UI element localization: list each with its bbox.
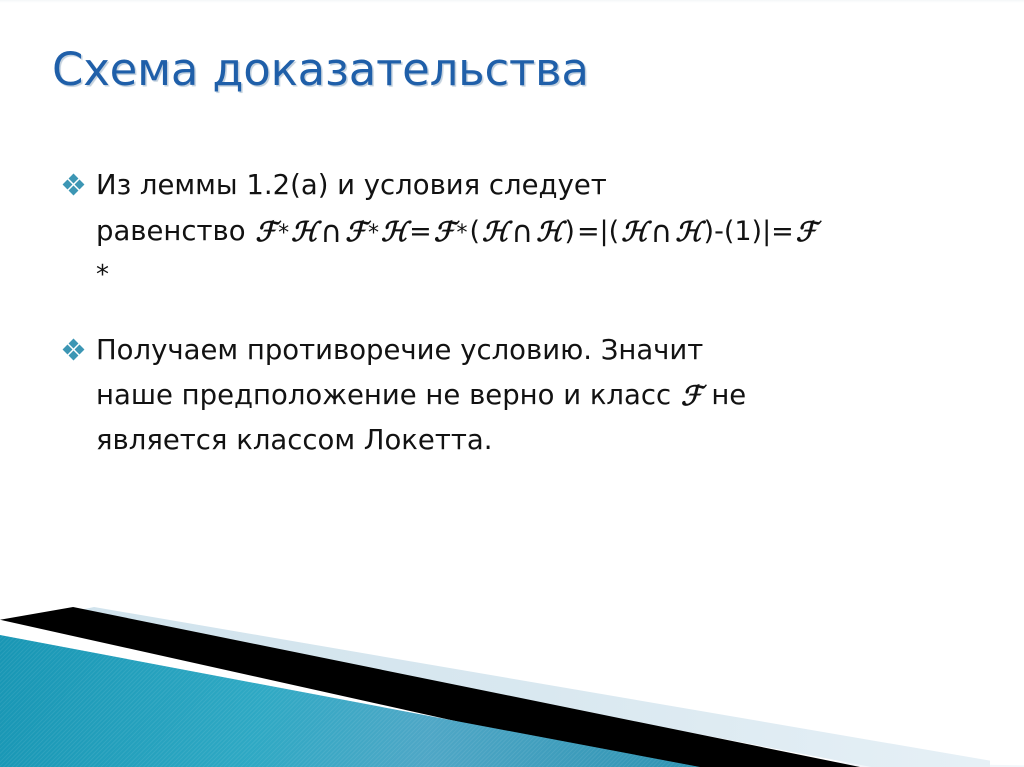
page-title: Схема доказательства	[52, 46, 952, 93]
decoration-band-teal	[0, 617, 700, 767]
equals-1: =	[408, 216, 433, 247]
paren-close-1: )	[563, 216, 576, 247]
frak-H-2: ℋ	[380, 217, 408, 248]
slide-decoration-bands	[0, 607, 1024, 767]
intersection-icon-2: ∩	[509, 215, 535, 250]
decoration-band-faint	[0, 607, 1024, 767]
list-item: Из леммы 1.2(а) и условия следует равенс…	[58, 163, 988, 294]
frak-H-4: ℋ	[535, 217, 563, 248]
bullet-2-line-2-a: наше предположение не верно и класс	[96, 379, 680, 411]
frak-F-2: ℱ	[344, 217, 367, 248]
floret-diamond-bullet-icon	[64, 340, 84, 360]
slide-title-block: Схема доказательства	[52, 46, 952, 120]
slide-top-rule	[0, 0, 1024, 3]
list-item: Получаем противоречие условию. Значит на…	[58, 328, 988, 463]
frak-H-6: ℋ	[674, 217, 702, 248]
star-2: *	[367, 221, 380, 246]
bullet-1-line-1: Из леммы 1.2(а) и условия следует	[96, 163, 988, 208]
decoration-band-black	[0, 607, 860, 767]
presentation-slide: Схема доказательства Из леммы 1.2(а) и у…	[0, 0, 1024, 767]
equals-2: =|(	[576, 216, 620, 247]
paren-close-2: )-(1)|=	[703, 216, 795, 247]
frak-F-5: ℱ	[680, 381, 703, 412]
star-1: *	[277, 221, 290, 246]
frak-F-3: ℱ	[433, 217, 456, 248]
decoration-band-pale-blue	[0, 607, 990, 767]
frak-H-1: ℋ	[290, 217, 318, 248]
bullet-1-line-3: *	[96, 256, 988, 294]
paren-open-1: (	[469, 216, 482, 247]
bullet-1-line-2-prefix: равенство	[96, 215, 254, 247]
intersection-icon-3: ∩	[648, 215, 674, 250]
bullet-2-line-1: Получаем противоречие условию. Значит	[96, 328, 988, 373]
intersection-icon-1: ∩	[318, 215, 344, 250]
slide-body: Из леммы 1.2(а) и условия следует равенс…	[58, 163, 988, 485]
bullet-1-formula-line: равенство ℱ*ℋ∩ℱ*ℋ=ℱ*(ℋ∩ℋ)=|(ℋ∩ℋ)-(1)|=ℱ	[96, 208, 988, 256]
floret-diamond-bullet-icon	[64, 175, 84, 195]
frak-F-4: ℱ	[795, 217, 818, 248]
frak-F-1: ℱ	[254, 217, 277, 248]
bullet-2-line-2: наше предположение не верно и класс ℱ не	[96, 373, 988, 418]
frak-H-3: ℋ	[481, 217, 509, 248]
frak-H-5: ℋ	[620, 217, 648, 248]
star-3: *	[456, 221, 469, 246]
bullet-2-line-3: является классом Локетта.	[96, 418, 988, 463]
bullet-2-line-2-b: не	[703, 379, 747, 411]
